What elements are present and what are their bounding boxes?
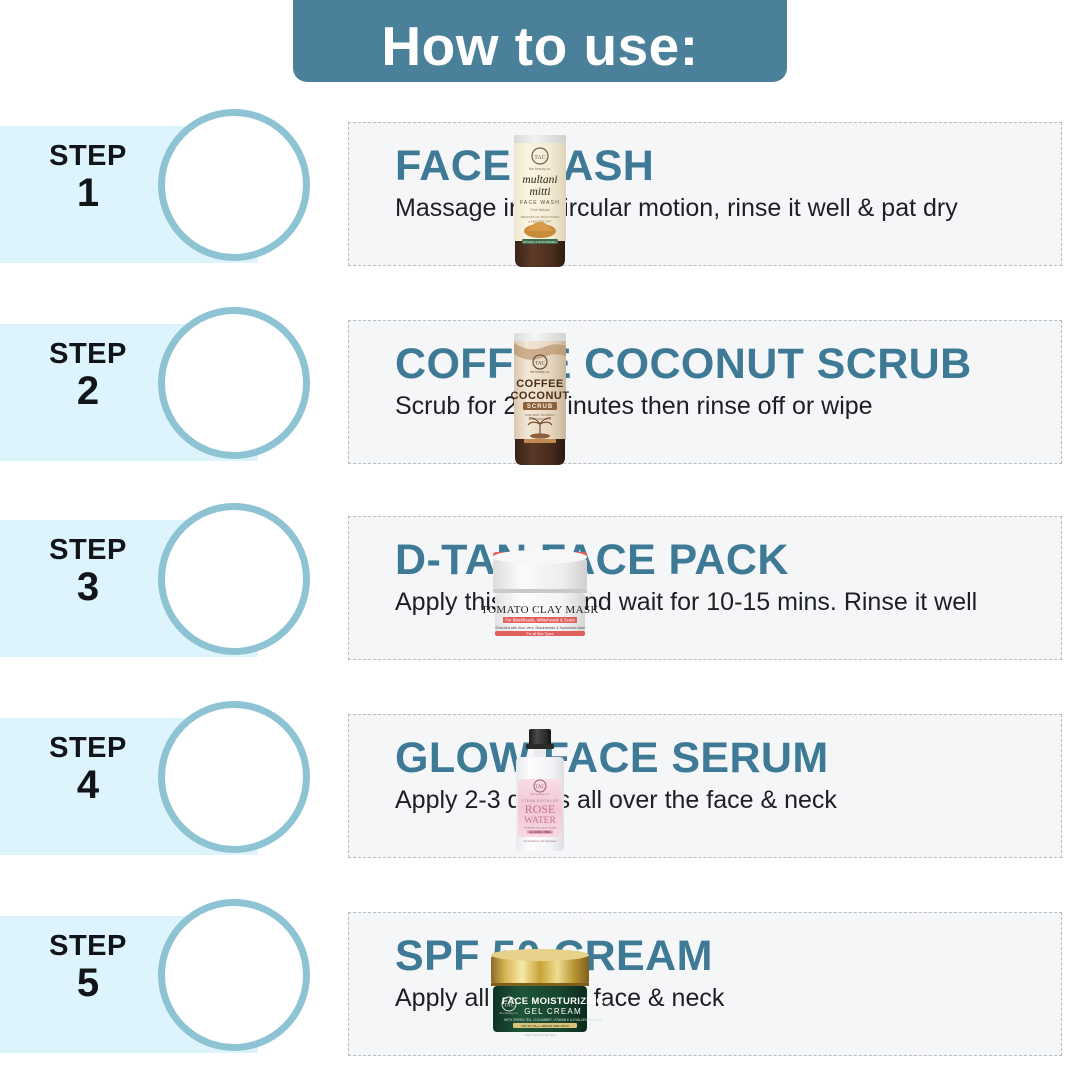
step-content-box: GLOW FACE SERUM Apply 2-3 drops all over… [348, 714, 1062, 858]
product-description: Apply this pack and wait for 10-15 mins.… [395, 588, 1061, 618]
step-number: 5 [0, 963, 176, 1004]
product-name: COFFEE COCONUT SCRUB [395, 343, 1061, 386]
step-row: STEP 4 TAC the beauty co. STEAM DISTILLE… [0, 692, 1080, 890]
step-label: STEP 5 [0, 932, 176, 1003]
step-row: STEP 3 TOMATO CLAY MASK For Blackheads, … [0, 494, 1080, 692]
step-word: STEP [0, 340, 176, 370]
product-name: GLOW FACE SERUM [395, 737, 1061, 780]
step-number: 3 [0, 567, 176, 608]
step-row: STEP 5 TAC the beauty co. FACE MOISTURIZ… [0, 890, 1080, 1088]
step-word: STEP [0, 142, 176, 172]
step-content-box: COFFEE COCONUT SCRUB Scrub for 2-5 minut… [348, 320, 1062, 464]
step-label: STEP 2 [0, 340, 176, 411]
step-label: STEP 4 [0, 734, 176, 805]
step-label: STEP 1 [0, 142, 176, 213]
step-number: 1 [0, 173, 176, 214]
header-banner: How to use: [293, 0, 787, 82]
step-row: STEP 2 TAC the beauty co. COFFEE COCONUT [0, 298, 1080, 496]
product-circle [158, 899, 310, 1051]
step-content-box: SPF 50 CREAM Apply all over the face & n… [348, 912, 1062, 1056]
step-word: STEP [0, 932, 176, 962]
step-content-box: FACE WASH Massage in a circular motion, … [348, 122, 1062, 266]
product-name: FACE WASH [395, 145, 1061, 188]
step-row: STEP 1 TAC the beauty co. multani mitti … [0, 100, 1080, 298]
step-number: 4 [0, 765, 176, 806]
product-description: Apply all over the face & neck [395, 984, 1061, 1014]
product-description: Apply 2-3 drops all over the face & neck [395, 786, 1061, 816]
product-circle [158, 503, 310, 655]
step-word: STEP [0, 734, 176, 764]
step-content-box: D-TAN FACE PACK Apply this pack and wait… [348, 516, 1062, 660]
product-circle [158, 701, 310, 853]
product-name: D-TAN FACE PACK [395, 539, 1061, 582]
product-circle [158, 109, 310, 261]
step-number: 2 [0, 371, 176, 412]
product-description: Massage in a circular motion, rinse it w… [395, 194, 1061, 224]
product-description: Scrub for 2-5 minutes then rinse off or … [395, 392, 1061, 422]
step-word: STEP [0, 536, 176, 566]
step-label: STEP 3 [0, 536, 176, 607]
product-circle [158, 307, 310, 459]
product-name: SPF 50 CREAM [395, 935, 1061, 978]
page-title: How to use: [381, 19, 698, 74]
